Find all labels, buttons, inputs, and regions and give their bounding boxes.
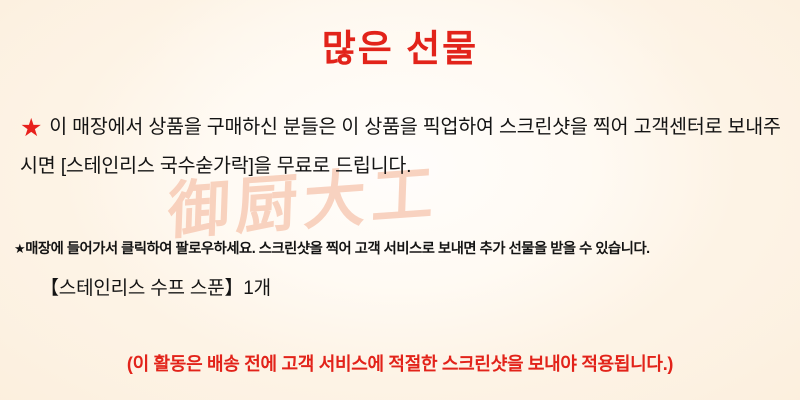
star-small-icon: ★ <box>14 241 25 256</box>
star-icon: ★ <box>20 116 42 141</box>
page-title: 많은 선물 <box>0 18 800 72</box>
main-paragraph: ★이 매장에서 상품을 구매하신 분들은 이 상품을 픽업하여 스크린샷을 찍어… <box>20 108 782 186</box>
footnote-disclaimer: (이 활동은 배송 전에 고객 서비스에 적절한 스크린샷을 보내야 적용됩니다… <box>0 350 800 378</box>
follow-instruction-note: ★매장에 들어가서 클릭하여 팔로우하세요. 스크린샷을 찍어 고객 서비스로 … <box>14 238 788 260</box>
gift-item-line: 【스테인리스 수프 스푼】1개 <box>40 274 271 304</box>
main-paragraph-text: 이 매장에서 상품을 구매하신 분들은 이 상품을 픽업하여 스크린샷을 찍어 … <box>20 116 781 177</box>
promo-banner: 御厨大工 많은 선물 ★이 매장에서 상품을 구매하신 분들은 이 상품을 픽업… <box>0 0 800 400</box>
banner-content: 많은 선물 ★이 매장에서 상품을 구매하신 분들은 이 상품을 픽업하여 스크… <box>0 0 800 400</box>
follow-instruction-text: 매장에 들어가서 클릭하여 팔로우하세요. 스크린샷을 찍어 고객 서비스로 보… <box>25 241 649 257</box>
